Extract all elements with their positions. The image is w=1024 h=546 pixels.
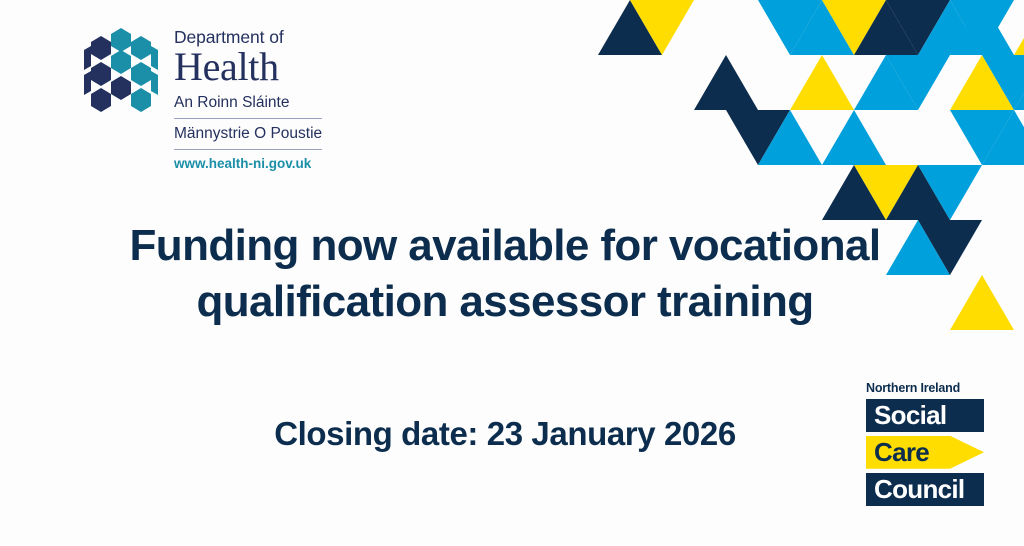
- niscc-word-social: Social: [866, 402, 946, 428]
- triangle-up: [790, 55, 854, 110]
- triangle-up: [1014, 0, 1024, 55]
- headline-line-2: qualification assessor training: [0, 274, 1010, 330]
- triangle-up: [822, 110, 886, 165]
- niscc-care-band: Care: [866, 436, 984, 469]
- doh-irish-line: An Roinn Sláinte: [174, 94, 322, 119]
- triangle-up: [694, 55, 758, 110]
- poster-canvas: Department of Health An Roinn Sláinte Mä…: [0, 0, 1024, 546]
- niscc-social-band: Social: [866, 399, 984, 432]
- doh-logo-text: Department of Health An Roinn Sláinte Mä…: [174, 26, 322, 172]
- niscc-word-care: Care: [866, 439, 929, 465]
- doh-website-link[interactable]: www.health-ni.gov.uk: [174, 157, 322, 172]
- page-title: Funding now available for vocational qua…: [0, 218, 1010, 331]
- hexagon-cluster-icon: [84, 28, 158, 114]
- doh-health-line: Health: [174, 47, 322, 88]
- niscc-council-band: Council: [866, 473, 984, 506]
- closing-date-text: Closing date: 23 January 2026: [0, 415, 1010, 453]
- niscc-word-council: Council: [866, 476, 964, 502]
- doh-ulster-scots-line: Männystrie O Poustie: [174, 125, 322, 150]
- headline-line-1: Funding now available for vocational: [0, 218, 1010, 274]
- niscc-region-label: Northern Ireland: [866, 382, 994, 396]
- department-of-health-logo: Department of Health An Roinn Sláinte Mä…: [84, 26, 322, 172]
- niscc-logo: Northern Ireland Social Care Council: [866, 382, 994, 510]
